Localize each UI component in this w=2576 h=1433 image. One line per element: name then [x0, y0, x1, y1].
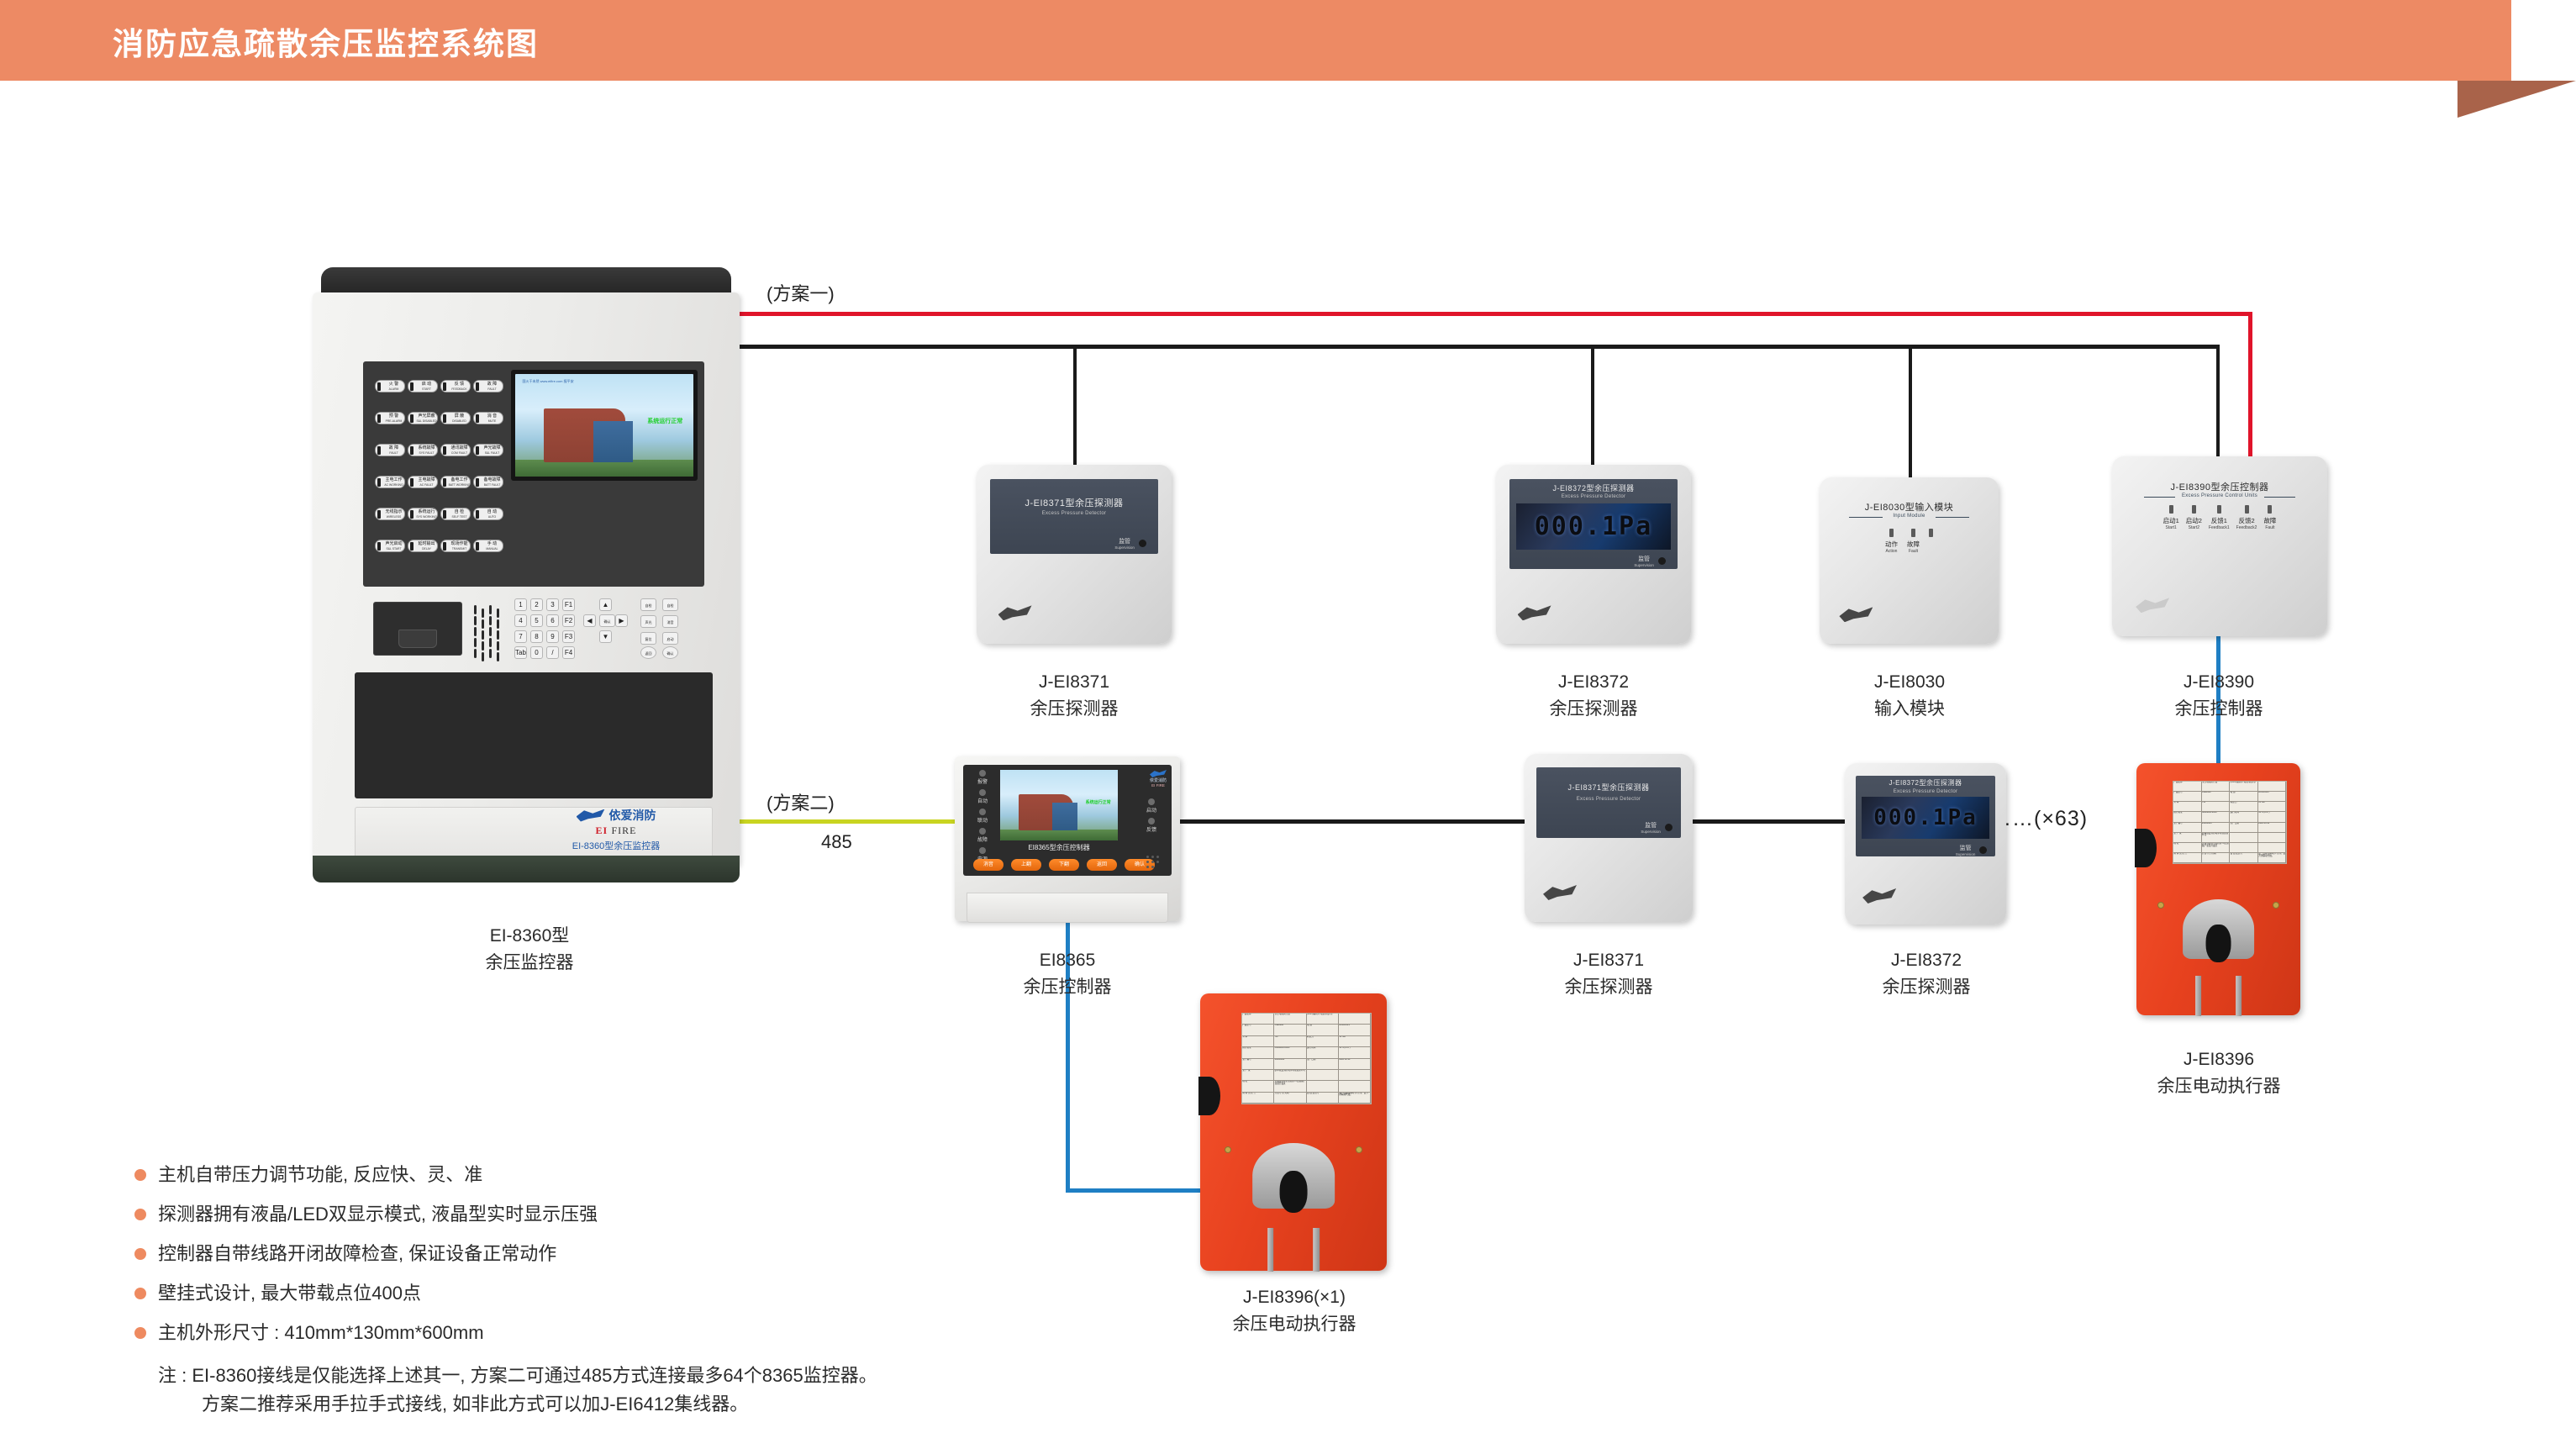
keypad-key[interactable]: 7 [514, 630, 527, 643]
controller-brand-cn: 依爱消防 [1150, 777, 1167, 783]
main-panel-caption: EI-8360型 余压监控器 [420, 923, 639, 977]
led-label-en: TRANSMIT [448, 547, 471, 551]
device-model-label: J-EI8396(×1) [1185, 1284, 1404, 1311]
device-model-label: J-EI8030 [1809, 669, 2010, 696]
led-label-cn: 反馈1 [2209, 516, 2230, 525]
caption-det8372-top: J-EI8372 余压探测器 [1493, 669, 1694, 723]
feature-bullet-text: 壁挂式设计, 最大带载点位400点 [158, 1283, 421, 1304]
led-indicator[interactable]: 自 动AUTO [473, 508, 503, 520]
spec-label-row: 生 产 家蚌埠依爱消防电子有限责任公司 [1242, 1070, 1371, 1081]
spec-label-cell: 生产编号 [1242, 1059, 1274, 1069]
panel-model-text: EI-8360型余压监控器 [528, 839, 704, 852]
device-title-en: Excess Pressure Detector [1536, 797, 1681, 802]
speaker-slot [474, 627, 477, 636]
led-label-cn: 声光故障 [481, 445, 503, 450]
lcd-building-glass [593, 421, 633, 462]
rule-left [2144, 497, 2175, 498]
keypad-key[interactable]: 3 [546, 598, 559, 611]
led-indicator[interactable]: 无线指示WIRELESS [375, 508, 405, 520]
led-label-cn: 声光屏蔽 [415, 413, 438, 419]
feature-bullet-text: 主机自带压力调节功能, 反应快、灵、准 [158, 1164, 482, 1186]
led-label-cn: 手 动 [481, 540, 503, 546]
device-title-en: Excess Pressure Detector [1509, 494, 1678, 499]
vent-hole [1156, 856, 1159, 858]
supervision-led-icon [1979, 846, 1987, 854]
speaker-slot [489, 627, 492, 636]
led-label-cn: 主电工作 [382, 477, 405, 482]
header-banner: 消防应急疏散余压监控系统图 [0, 0, 2511, 81]
led-indicator[interactable]: 声光屏蔽S&L DISABLED [408, 412, 438, 424]
device-title-cn: J-EI8390型余压控制器 [2127, 480, 2312, 493]
controller-led: 报警 [968, 770, 997, 785]
panel-indicator-face: 火 警ALARM启 动START反 馈FEEDBACK故 障FAULT预 警PR… [363, 361, 704, 587]
bullet-dot-icon [134, 1209, 146, 1220]
led-label-cn: 系统运行 [415, 508, 438, 514]
device-type-label: 余压探测器 [1508, 974, 1709, 1001]
led-indicator[interactable]: 现场作能TRANSMIT [440, 540, 471, 552]
wire-drop-mod8030 [1909, 345, 1912, 479]
led-label-cn: 火 警 [382, 381, 405, 387]
wire-lower-bus-2 [1691, 819, 1846, 824]
spec-label-cell: 转矩力 [2230, 802, 2258, 811]
spec-label-cell: 地 址 [2173, 843, 2202, 852]
spec-label-cell: 公 率 [2173, 802, 2202, 811]
device-type-label: 余压电动执行器 [2118, 1073, 2320, 1100]
led-indicator[interactable]: 声光启动S&L START [375, 540, 405, 552]
bus-485-label: 485 [821, 831, 852, 853]
feature-bullet-text: 控制器自带线路开闭故障检查, 保证设备正常动作 [158, 1243, 556, 1265]
keypad-key[interactable]: F1 [562, 598, 575, 611]
wire-485-bus [724, 819, 968, 824]
led-bar-icon [2217, 505, 2221, 514]
controller-led-row: 启动1Start1启动2Start2反馈1Feedback1反馈2Feedbac… [2112, 505, 2327, 530]
supervision-label-en: Supervision [1956, 852, 1976, 856]
speaker-slot [489, 649, 492, 658]
actuator-shaft-clamp [2183, 899, 2255, 995]
led-bar-icon [1889, 529, 1894, 537]
bullet-dot-icon [134, 1288, 146, 1299]
bolt-left [1267, 1228, 1274, 1272]
led-label: 自动 [968, 797, 997, 804]
led-label-en: MANUAL [481, 547, 503, 551]
wire-lower-bus-1 [1177, 819, 1525, 824]
device-title-cn: J-EI8371型余压探测器 [990, 496, 1158, 509]
actuator-spec-label: 产品名称余压电动执行器(8065)编制中 动态/调整/示产品型号J-EI8396… [1241, 1013, 1372, 1104]
supervision-led-icon [1658, 557, 1666, 565]
led-label-en: S&L START [382, 547, 405, 551]
keypad-key[interactable]: 4 [514, 614, 527, 627]
device-model-label: J-EI8390 [2118, 669, 2320, 696]
keypad-key[interactable]: F2 [562, 614, 575, 627]
keypad-key[interactable]: 1 [514, 598, 527, 611]
device-faceplate: J-EI8371型余压探测器 Excess Pressure Detector … [1536, 767, 1681, 838]
bullet-dot-icon [134, 1248, 146, 1260]
led-label-cn: 声光启动 [382, 540, 405, 546]
keypad-function-key[interactable]: 启动 [662, 632, 678, 645]
spec-label-cell: 电 源 [2230, 792, 2258, 801]
feature-bullet-text: 主机外形尺寸 : 410mm*130mm*600mm [158, 1322, 484, 1344]
keypad-key[interactable]: F3 [562, 630, 575, 643]
controller-button-row[interactable]: 消音上翻下翻返回确认 [973, 859, 1162, 871]
led-label-en: COM FAULT [448, 451, 471, 455]
led-lamp-icon [377, 510, 381, 519]
keypad-nav-key[interactable]: ▶ [615, 614, 628, 627]
actuator-cable-notch [1198, 1077, 1220, 1115]
controller-button[interactable]: 上翻 [1011, 859, 1041, 871]
device-led: 动作Action [1885, 529, 1898, 554]
spec-label-cell: 转矩力 [1307, 1036, 1339, 1046]
led-indicator[interactable]: 启 动START [408, 380, 438, 392]
controller-faceplate: 报警自动联动故障电源 启动反馈 系统运行正常 EI8365型余压控制器 依爱消防… [963, 765, 1172, 876]
spec-label-row: 地 址安徽省蚌埠市高新区××街道路产业园开发区 [2173, 843, 2287, 853]
keypad[interactable]: 123F1456F2789F3Tab0/F4◀确认▶▲▼自检自检声光消音复位启动… [514, 598, 693, 662]
speaker-slot [474, 638, 477, 647]
spec-label-row: 产品名称余压电动执行器(8065)编制中 动态/调整/示 [1242, 1014, 1371, 1025]
keypad-nav-key[interactable]: 确认 [599, 614, 615, 627]
spec-label-cell: 安徽省蚌埠市高新区××街道路产业园开发区 [2202, 843, 2231, 852]
led-label-en: AC WORKING [382, 483, 405, 487]
spec-label-cell: 黄 黄 黑 红 兰 [1242, 1093, 1274, 1103]
led-indicator[interactable]: 预 警PRE-ALARM [375, 412, 405, 424]
scheme-two-label: (方案二) [766, 788, 835, 815]
device-led: 故障Fault [1907, 529, 1920, 554]
vent-hole [1146, 861, 1149, 863]
led-label-cn: 故障 [1907, 540, 1920, 549]
controller-led: 联动 [968, 809, 997, 824]
supervision-indicator: 监管 Supervision [1114, 537, 1135, 550]
led-label: 反馈 [1136, 825, 1167, 833]
keypad-key[interactable]: 2 [530, 598, 543, 611]
spec-label-cell: 余压电动执行器 [2202, 782, 2231, 791]
spec-label-cell [1307, 1081, 1339, 1091]
spec-label-cell: 生 产 家 [2173, 833, 2202, 842]
keypad-function-key[interactable]: 自检 [662, 598, 678, 611]
device-led: 反馈2Feedback2 [2236, 505, 2257, 530]
bolt-left [2195, 976, 2201, 1016]
led-indicator[interactable]: 通讯故障COM FAULT [440, 444, 471, 456]
bullet-dot-icon [134, 1327, 146, 1339]
device-title-en: Excess Pressure Detector [990, 511, 1158, 516]
vent-hole [1151, 866, 1154, 868]
device-title-cn: J-EI8030型输入模块 [1832, 500, 1986, 514]
led-lamp-icon [443, 446, 446, 455]
led-lamp-icon [443, 382, 446, 391]
led-indicator[interactable]: 故 障FAULT [375, 444, 405, 456]
led-indicator[interactable]: 消 音MUTE [473, 412, 503, 424]
spec-label-row: 产品型号J-EI8396电 源AC/DC24V [2173, 792, 2287, 802]
spec-label-cell: 蚌埠依爱消防电子有限责任公司 [2202, 833, 2231, 842]
controller-status-text: 系统运行正常 [1086, 799, 1111, 805]
led-lamp-icon [377, 414, 381, 423]
keypad-function-key[interactable]: 声光 [640, 615, 656, 628]
keypad-key[interactable]: 8 [530, 630, 543, 643]
actuator-cable-notch [2135, 829, 2157, 867]
device-title-cn: J-EI8372型余压探测器 [1509, 482, 1678, 493]
feature-bullet: 主机自带压力调节功能, 反应快、灵、准 [134, 1164, 1101, 1186]
spec-label-cell: 开信号 (开)(关) [1274, 1093, 1306, 1103]
led-indicator[interactable]: 延时输出DELAY [408, 540, 438, 552]
controller-led: 反馈 [1136, 818, 1167, 833]
speaker-slot [489, 638, 492, 647]
ei-logo-icon [998, 605, 1032, 620]
led-label-en: START [415, 387, 438, 391]
led-label-en: Start1 [2163, 525, 2179, 530]
spec-label-cell: 2020.06.30 [1339, 1059, 1371, 1069]
spec-label-cell: 生产日期 [2230, 823, 2258, 832]
led-label-cn: 反 馈 [448, 381, 471, 387]
led-lamp-icon [443, 542, 446, 551]
led-bar-icon [1929, 529, 1933, 537]
spec-label-cell: 电 源 [1307, 1025, 1339, 1035]
caption-det8372-bottom: J-EI8372 余压探测器 [1825, 947, 2027, 1001]
spec-label-cell: 2020.06.30 [2258, 823, 2287, 832]
ei-logo-icon [2136, 598, 2169, 613]
led-indicator[interactable]: 屏 蔽DISABLED [440, 412, 471, 424]
ei-logo-icon [1862, 888, 1896, 904]
panel-base [313, 856, 740, 882]
keypad-nav-key[interactable]: ◀ [583, 614, 596, 627]
spec-label-cell: 运行时间 [1307, 1047, 1339, 1057]
led-label-cn: 故障 [2263, 516, 2276, 525]
led-indicator-grid[interactable]: 火 警ALARM启 动START反 馈FEEDBACK故 障FAULT预 警PR… [375, 371, 506, 573]
lcd-ground [515, 460, 693, 477]
led-label-cn: 自 动 [481, 508, 503, 514]
spec-label-cell: 产品型号 [2173, 792, 2202, 801]
spec-label-cell: 产品型号 [1242, 1025, 1274, 1035]
ei-logo-icon [1518, 605, 1551, 620]
ei-logo-icon [1839, 607, 1873, 622]
spec-label-cell: 安徽省蚌埠市高新区××街道路产业园开发区 [1274, 1081, 1306, 1091]
led-bar-icon [2192, 505, 2196, 514]
led-indicator[interactable]: 主电故障AC FAULT [408, 476, 438, 488]
spec-label-cell: 产品名称 [1242, 1014, 1274, 1024]
device-det8372-top[interactable]: J-EI8372型余压探测器 Excess Pressure Detector … [1496, 465, 1691, 644]
feature-bullet-text: 探测器拥有液晶/LED双显示模式, 液晶型实时显示压强 [158, 1204, 598, 1225]
keypad-function-key[interactable]: 确认 [662, 646, 678, 659]
spec-label-cell: 生 产 家 [1242, 1070, 1274, 1080]
controller-led: 故障 [968, 828, 997, 843]
led-lamp-icon [410, 478, 414, 487]
led-lamp-icon [476, 414, 479, 423]
led-lamp-icon [979, 828, 986, 835]
spec-label-cell: 生产日期 [1307, 1059, 1339, 1069]
printer-module[interactable] [373, 602, 462, 656]
device-faceplate: J-EI8372型余压探测器 Excess Pressure Detector … [1509, 479, 1678, 569]
led-label-en: S&L FAULT [481, 451, 503, 455]
keypad-key[interactable]: 6 [546, 614, 559, 627]
keypad-key[interactable]: / [546, 646, 559, 659]
spec-label-row: 生产编号20200606生产日期2020.06.30 [2173, 823, 2287, 833]
led-label-en: Start2 [2186, 525, 2202, 530]
device-type-label: 余压控制器 [2118, 696, 2320, 723]
spec-label-cell: GB16806-2006 [2202, 812, 2231, 821]
ei-fire-logo-icon [1150, 770, 1167, 777]
brand-fire-text: FIRE [612, 825, 637, 836]
led-label-cn: 延时输出 [415, 540, 438, 546]
led-indicator[interactable]: 备电故障BATT FAULT [473, 476, 503, 488]
panel-brand-plate: 依爱消防 EI FIRE EI-8360型余压监控器 [528, 807, 704, 852]
led-label-en: S&L DISABLED [415, 419, 438, 423]
keypad-function-key[interactable]: 返回 [640, 646, 656, 659]
led-indicator[interactable]: 手 动MANUAL [473, 540, 503, 552]
spec-label-cell: 产品名称 [2173, 782, 2202, 791]
supervision-label-en: Supervision [1114, 545, 1135, 550]
led-indicator[interactable]: 备电工作BATT WORKING [440, 476, 471, 488]
controller-screen[interactable]: 系统运行正常 [1000, 770, 1118, 840]
keypad-key[interactable]: 0 [530, 646, 543, 659]
device-faceplate: J-EI8372型余压探测器 Excess Pressure Detector … [1856, 776, 1994, 856]
vent-hole [1156, 861, 1159, 863]
led-indicator[interactable]: 系统故障SYS FAULT [408, 444, 438, 456]
led-label-cn: 故 障 [382, 445, 405, 450]
spec-label-cell: 白 白 反信号 [1307, 1093, 1339, 1103]
led-label-en: SYS WORKING [415, 515, 438, 519]
rule-right [2264, 497, 2295, 498]
device-mod8030[interactable]: J-EI8030型输入模块 Input Module 动作Action故障Fau… [1820, 477, 1999, 644]
led-label-en: FAULT [481, 387, 503, 391]
controller-model-text: EI8365型余压控制器 [1000, 843, 1118, 852]
led-lamp-icon [979, 847, 986, 854]
shaft-hole [1279, 1171, 1307, 1213]
spec-label-cell: 7W [1274, 1036, 1306, 1046]
device-actuator-bottom[interactable]: 产品名称余压电动执行器(8065)编制中 动态/调整/示产品型号J-EI8396… [1200, 993, 1387, 1271]
footnote-line2: 方案二推荐采用手拉手式接线, 如非此方式可以加J-EI6412集线器。 [202, 1390, 1101, 1419]
led-indicator[interactable]: 反 馈FEEDBACK [440, 380, 471, 392]
led-label-en: SELF TEST [448, 515, 471, 519]
led-label-cn: 主电故障 [415, 477, 438, 482]
spec-label-row: 生产编号20200606生产日期2020.06.30 [1242, 1059, 1371, 1070]
keypad-key[interactable]: F4 [562, 646, 575, 659]
spec-label-cell: J-EI8396 [1274, 1025, 1306, 1035]
speaker-slot [489, 616, 492, 625]
speaker-slot [497, 630, 499, 640]
page-title: 消防应急疏散余压监控系统图 [113, 18, 539, 64]
spec-label-cell: 公 率 [1242, 1036, 1274, 1046]
device-led: 反馈1Feedback1 [2209, 505, 2230, 530]
supervision-indicator: 监管 Supervision [1956, 844, 1976, 856]
led-lamp-icon [979, 809, 986, 815]
keypad-function-key[interactable]: 自检 [640, 598, 656, 611]
device-model-label: J-EI8372 [1825, 947, 2027, 974]
keypad-key[interactable]: 9 [546, 630, 559, 643]
keypad-function-key[interactable]: 复位 [640, 632, 656, 645]
device-type-label: 余压电动执行器 [1185, 1311, 1404, 1338]
led-label-en: SYS FAULT [415, 451, 438, 455]
spec-label-cell: 黄 黄 黑 红 兰 [2173, 853, 2202, 862]
spec-label-cell [1339, 1014, 1371, 1024]
device-actuator-right[interactable]: 产品名称余压电动执行器(8065)编制中 动态/调整/示产品型号J-EI8396… [2136, 763, 2300, 1015]
keypad-nav-key[interactable]: ▼ [599, 630, 612, 643]
spec-label-cell: GB16806-2006 [1274, 1047, 1306, 1057]
speaker-slot [497, 608, 499, 618]
device-type-label: 余压探测器 [973, 696, 1175, 723]
speaker-slot [497, 641, 499, 651]
main-control-panel[interactable]: 火 警ALARM启 动START反 馈FEEDBACK故 障FAULT预 警PR… [313, 267, 740, 898]
screw-icon-right [1356, 1146, 1362, 1153]
spec-label-cell: 注：此图为解时作·开闭，反开闭联动代线。 [2258, 853, 2287, 862]
speaker-slot [474, 649, 477, 658]
panel-lower-bay [355, 672, 713, 798]
spec-label-cell: 20200606 [2202, 823, 2231, 832]
spec-label-cell [2258, 843, 2287, 852]
device-ctl8390[interactable]: J-EI8390型余压控制器 Excess Pressure Control U… [2112, 456, 2327, 636]
spec-label-cell: 注：此图为解时作·开闭，反开闭联动代线。 [1339, 1093, 1371, 1103]
device-ctl8365[interactable]: 报警自动联动故障电源 启动反馈 系统运行正常 EI8365型余压控制器 依爱消防… [955, 756, 1180, 921]
device-model-label: J-EI8371 [973, 669, 1175, 696]
speaker-slot [482, 630, 484, 640]
keypad-nav-key[interactable]: ▲ [599, 598, 612, 611]
panel-lcd-screen[interactable]: 国火干未然 www.eifire.com 报平安 系统运行正常 [511, 370, 698, 481]
feature-bullet: 主机外形尺寸 : 410mm*130mm*600mm [134, 1322, 1101, 1344]
led-lamp-icon [410, 446, 414, 455]
device-faceplate: J-EI8371型余压探测器 Excess Pressure Detector … [990, 479, 1158, 554]
led-lamp-icon [377, 382, 381, 391]
caption-actuator-right: J-EI8396 余压电动执行器 [2118, 1046, 2320, 1100]
feature-bullet: 控制器自带线路开闭故障检查, 保证设备正常动作 [134, 1243, 1101, 1265]
controller-button[interactable]: 下翻 [1049, 859, 1079, 871]
device-led [1929, 529, 1933, 554]
led-label-en: AC FAULT [415, 483, 438, 487]
keypad-key[interactable]: Tab [514, 646, 527, 659]
led-lamp-icon [377, 478, 381, 487]
controller-brand: 依爱消防 EI FIRE [1150, 770, 1167, 788]
lcd-status-text: 系统运行正常 [647, 417, 682, 425]
led-indicator[interactable]: 火 警ALARM [375, 380, 405, 392]
bullet-dot-icon [134, 1169, 146, 1181]
led-lamp-icon [410, 414, 414, 423]
lcd-building-glass [1052, 803, 1078, 831]
led-label-en: Fault [2263, 525, 2276, 530]
supervision-label-cn: 监管 [1956, 844, 1976, 852]
keypad-function-key[interactable]: 消音 [662, 615, 678, 628]
led-bar-icon [2245, 505, 2249, 514]
spec-label-cell: 15 Nm [2258, 802, 2287, 811]
device-led: 启动2Start2 [2186, 505, 2202, 530]
keypad-key[interactable]: 5 [530, 614, 543, 627]
led-lamp-icon [443, 478, 446, 487]
device-det8371-top[interactable]: J-EI8371型余压探测器 Excess Pressure Detector … [977, 465, 1172, 644]
device-det8372-bottom[interactable]: J-EI8372型余压探测器 Excess Pressure Detector … [1845, 763, 2006, 925]
led-label-cn: 备电工作 [448, 477, 471, 482]
scheme-one-label: (方案一) [766, 279, 835, 306]
device-title-cn: J-EI8371型余压探测器 [1536, 782, 1681, 793]
spec-label-cell: AC/DC24V [1339, 1025, 1371, 1035]
banner-fold-decoration [2457, 81, 2576, 118]
screw-icon-left [1225, 1146, 1231, 1153]
device-det8371-bottom[interactable]: J-EI8371型余压探测器 Excess Pressure Detector … [1525, 754, 1693, 922]
spec-label-cell: 20200606 [1274, 1059, 1306, 1069]
led-lamp-icon [476, 382, 479, 391]
speaker-slot [474, 616, 477, 625]
rule-right [1936, 517, 1969, 519]
led-indicator[interactable]: 声光故障S&L FAULT [473, 444, 503, 456]
device-title-en: Excess Pressure Detector [1856, 789, 1994, 794]
controller-button[interactable]: 消音 [973, 859, 1004, 871]
supervision-led-icon [1665, 824, 1673, 831]
led-indicator[interactable]: 主电工作AC WORKING [375, 476, 405, 488]
led-indicator[interactable]: 系统运行SYS WORKING [408, 508, 438, 520]
led-label-en: PRE-ALARM [382, 419, 405, 423]
led-lamp-icon [979, 789, 986, 796]
led-indicator[interactable]: 自 检SELF TEST [440, 508, 471, 520]
led-indicator[interactable]: 故 障FAULT [473, 380, 503, 392]
spec-label-cell: 蚌埠依爱消防电子有限责任公司 [1274, 1070, 1306, 1080]
device-led: 故障Fault [2263, 505, 2276, 530]
supervision-led-icon [1139, 540, 1146, 547]
led-lamp-icon [377, 446, 381, 455]
led-label: 联动 [968, 816, 997, 824]
controller-button[interactable]: 返回 [1087, 859, 1117, 871]
